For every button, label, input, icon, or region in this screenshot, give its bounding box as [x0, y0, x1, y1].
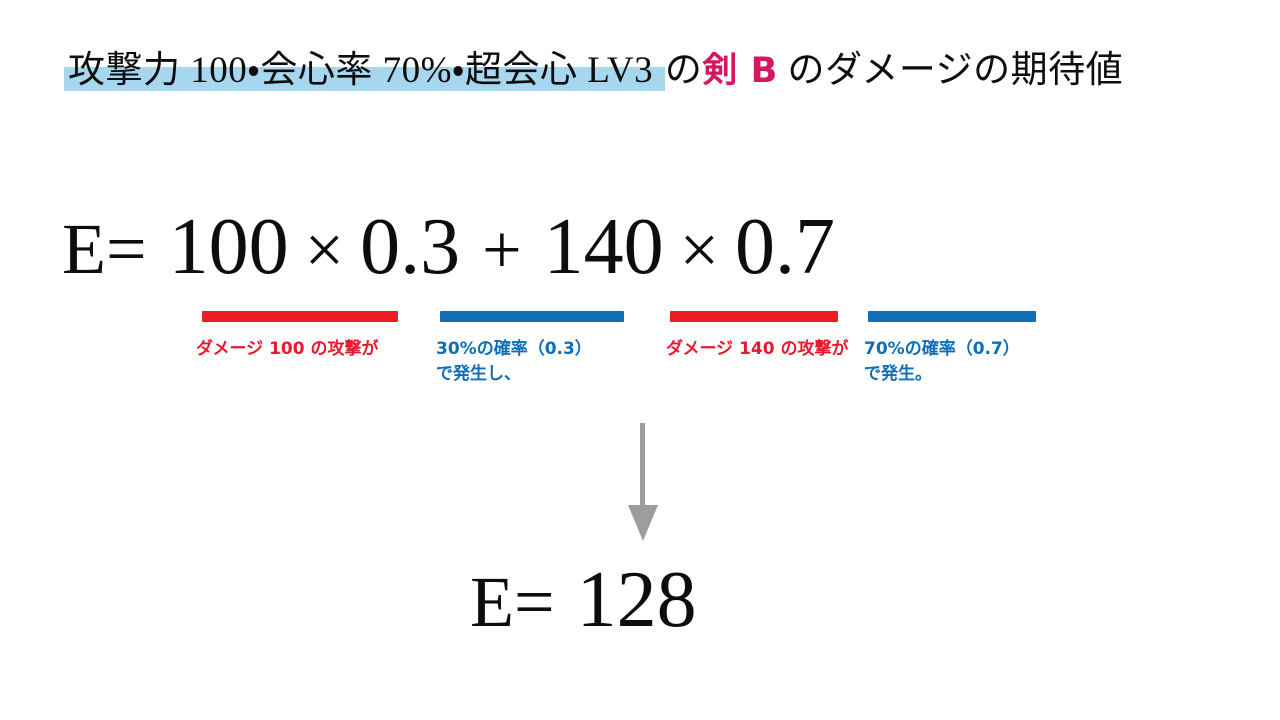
title-plain-text-2: のダメージの期待値 — [778, 50, 1123, 91]
underline-bar-term1-value — [202, 311, 398, 322]
annotation-term1-damage: ダメージ 100 の攻撃が — [196, 337, 378, 362]
result-lhs: E= — [470, 562, 555, 642]
expected-value-result: E=128 — [470, 560, 697, 640]
formula-lhs: E= — [62, 209, 147, 289]
title-highlighted-text: 攻撃力 100・会心率 70%・超会心 LV3 — [64, 50, 665, 91]
formula-multiply-2: × — [680, 212, 719, 289]
annotation-term1-probability: 30%の確率（0.3） で発生し、 — [436, 337, 592, 386]
title-plain-text-1: の — [665, 50, 703, 91]
arrow-down-icon — [623, 423, 663, 539]
arrow-shaft — [640, 423, 645, 507]
formula-plus: + — [482, 212, 521, 289]
result-value: 128 — [577, 556, 697, 644]
formula-term2-probability: 0.7 — [735, 203, 835, 291]
formula-multiply-1: × — [305, 212, 344, 289]
expected-value-formula: E=100×0.3+140×0.7 — [62, 207, 835, 287]
annotation-term2-probability: 70%の確率（0.7） で発生。 — [864, 337, 1020, 386]
underline-bar-term1-probability — [440, 311, 624, 322]
underline-bar-term2-value — [670, 311, 838, 322]
page-title: 攻撃力 100・会心率 70%・超会心 LV3 の剣 B のダメージの期待値 — [64, 52, 1123, 89]
arrow-head — [628, 505, 658, 541]
annotation-term2-damage: ダメージ 140 の攻撃が — [666, 337, 848, 362]
title-emphasis-sword-b: 剣 B — [702, 51, 777, 91]
formula-term2-value: 140 — [544, 203, 664, 291]
formula-term1-probability: 0.3 — [360, 203, 460, 291]
underline-bar-term2-probability — [868, 311, 1036, 322]
formula-term1-value: 100 — [169, 203, 289, 291]
